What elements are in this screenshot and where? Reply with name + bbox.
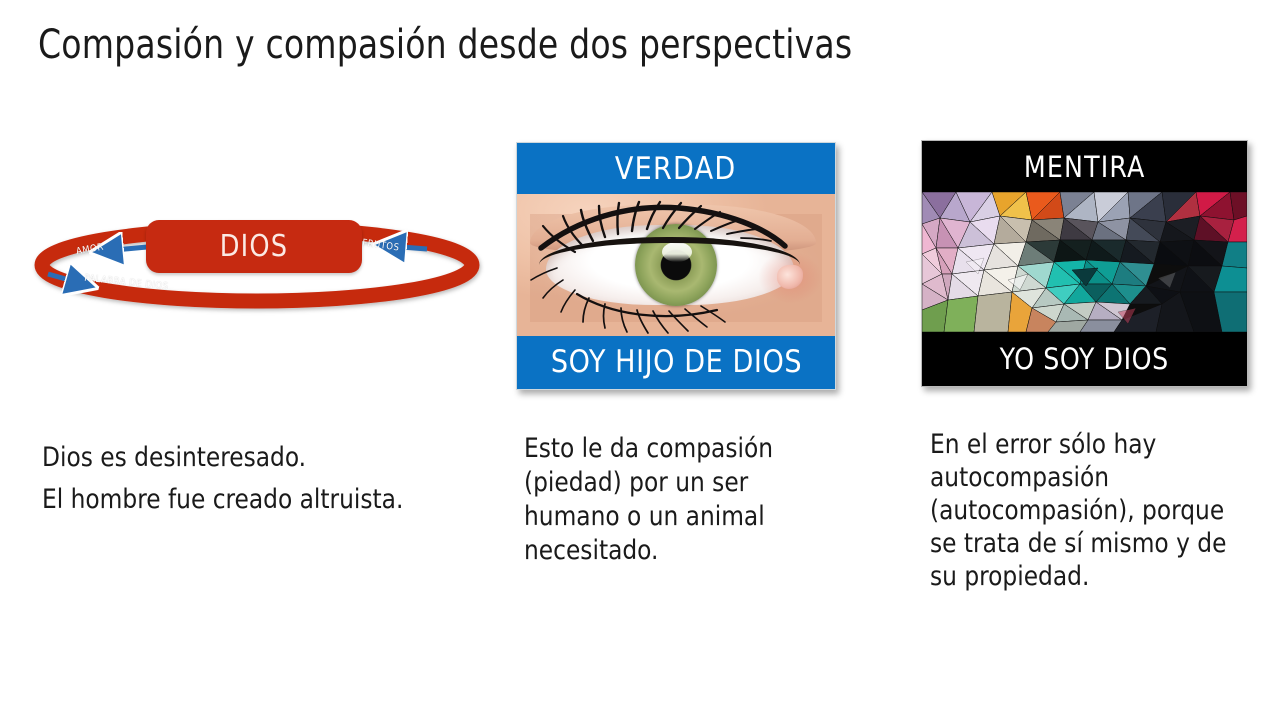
text-line-left-2: El hombre fue creado altruista.	[42, 479, 493, 521]
realistic-eye-illustration	[517, 194, 835, 336]
dios-box: DIOS	[146, 220, 362, 273]
panel-verdad-image	[517, 194, 835, 336]
low-poly-triangles	[922, 192, 1247, 332]
text-paragraph-right: En el error sólo hay autocompasión (auto…	[930, 428, 1247, 593]
panel-mentira-bottom-label: YO SOY DIOS	[1000, 342, 1169, 376]
text-column-middle: Esto le da compasión (piedad) por un ser…	[524, 432, 844, 568]
panel-verdad-bottom-label: SOY HIJO DE DIOS	[550, 344, 801, 380]
panel-verdad-top-band: VERDAD	[517, 143, 835, 194]
panel-verdad-top-label: VERDAD	[615, 151, 737, 187]
eyelash-strokes	[517, 194, 835, 336]
low-poly-eye-illustration	[922, 192, 1247, 332]
panel-mentira-top-label: MENTIRA	[1024, 150, 1146, 184]
panel-mentira-bottom-band: YO SOY DIOS	[922, 332, 1247, 385]
panel-verdad: VERDAD	[516, 142, 836, 390]
panel-mentira-image	[922, 192, 1247, 332]
text-column-left: Dios es desinteresado. El hombre fue cre…	[42, 437, 512, 521]
slide-canvas: Compasión y compasión desde dos perspect…	[0, 0, 1280, 720]
panel-mentira: MENTIRA	[921, 140, 1248, 387]
text-paragraph-middle: Esto le da compasión (piedad) por un ser…	[524, 432, 831, 568]
page-title: Compasión y compasión desde dos perspect…	[38, 20, 1124, 70]
text-line-left-1: Dios es desinteresado.	[42, 437, 493, 479]
god-cycle-diagram: DIOS AMOR FRUTOS PALABRA DE DIOS	[32, 208, 482, 318]
text-column-right: En el error sólo hay autocompasión (auto…	[930, 428, 1260, 593]
panel-verdad-bottom-band: SOY HIJO DE DIOS	[517, 336, 835, 388]
dios-label: DIOS	[220, 232, 288, 262]
panel-mentira-top-band: MENTIRA	[922, 141, 1247, 192]
